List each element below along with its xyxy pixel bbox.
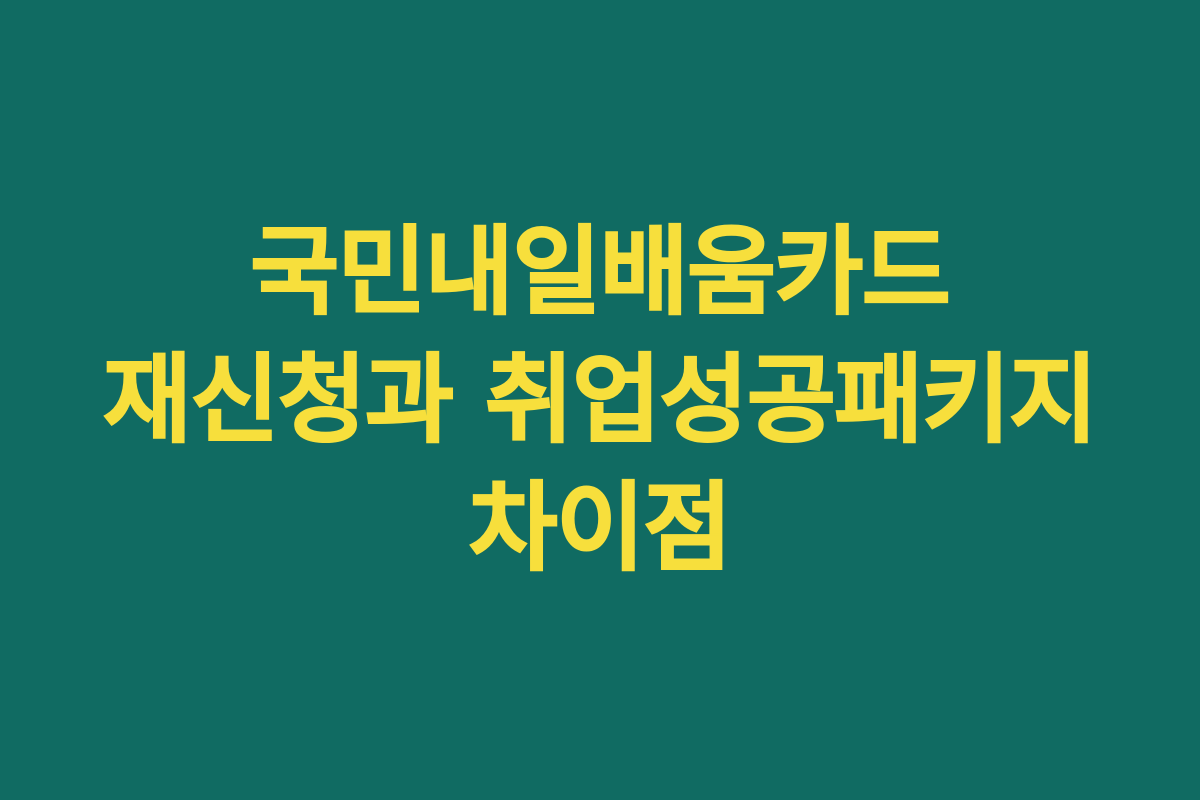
page-title: 국민내일배움카드 재신청과 취업성공패키지 차이점 [100, 208, 1100, 592]
thumbnail-card: 국민내일배움카드 재신청과 취업성공패키지 차이점 [0, 0, 1200, 800]
headline-block: 국민내일배움카드 재신청과 취업성공패키지 차이점 [100, 208, 1100, 592]
